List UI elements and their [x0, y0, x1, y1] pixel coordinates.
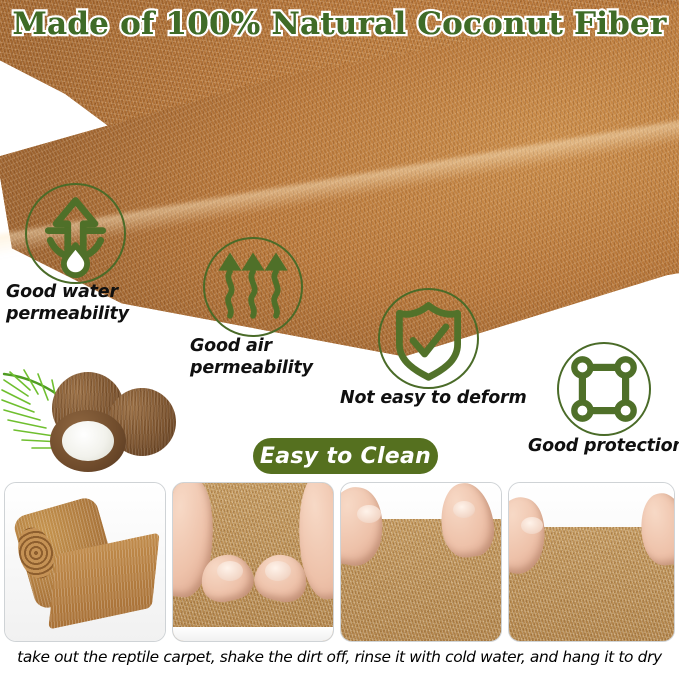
coconut-illustration [0, 366, 200, 476]
easy-to-clean-badge: Easy to Clean [253, 438, 438, 474]
fingernail-right [453, 501, 475, 518]
feature-label-water-permeability: Good water permeability [6, 282, 186, 326]
gallery-photo-hands-lift-edge [340, 482, 502, 642]
photo-backdrop [173, 627, 333, 641]
product-infographic: Made of 100% Natural Coconut Fiber Made … [0, 0, 679, 678]
coconut-halved [50, 410, 126, 472]
gallery-photo-rolled-mat [4, 482, 166, 642]
easy-to-clean-label: Easy to Clean [260, 444, 431, 469]
fingernail-right [265, 561, 291, 581]
square-nodes-icon [557, 342, 651, 436]
feature-label-air-permeability: Good air permeability [190, 336, 370, 380]
gallery-photo-mat-close-up [508, 482, 675, 642]
page-title: Made of 100% Natural Coconut Fiber [0, 6, 679, 42]
water-permeability-icon [25, 183, 126, 284]
fingernail-left [357, 505, 381, 523]
care-instructions-caption: take out the reptile carpet, shake the d… [0, 648, 679, 666]
gallery-photo-hands-texture [172, 482, 334, 642]
shield-check-icon [378, 288, 479, 389]
fingernail-left [217, 561, 243, 581]
feature-label-good-protection: Good protection [528, 436, 679, 458]
air-permeability-icon [203, 237, 303, 337]
feature-label-not-easy-to-deform: Not easy to deform [340, 388, 570, 410]
fingernail-left [521, 517, 543, 534]
